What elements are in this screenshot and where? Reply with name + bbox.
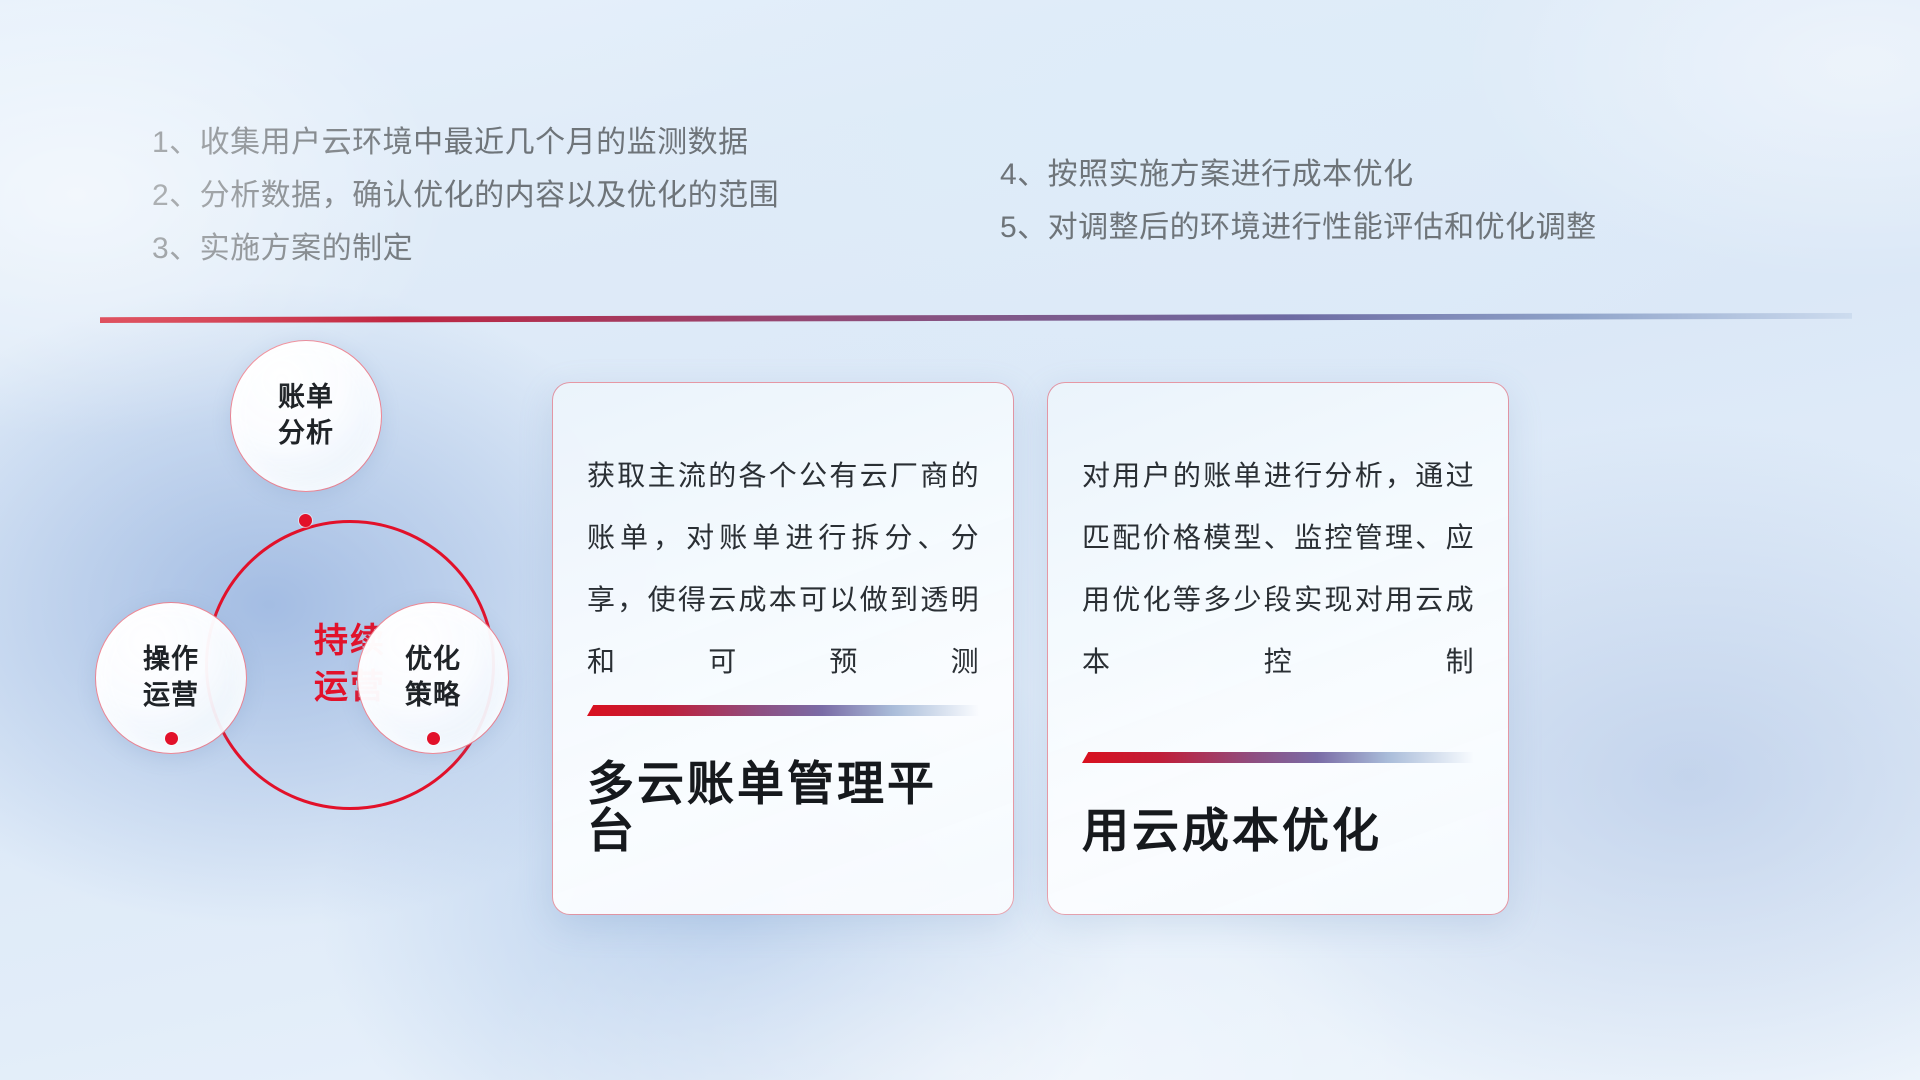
card-title: 用云成本优化 bbox=[1082, 763, 1474, 914]
process-steps-left: 1、收集用户云环境中最近几个月的监测数据 2、分析数据，确认优化的内容以及优化的… bbox=[152, 128, 779, 287]
node-connector-dot-top-icon bbox=[299, 514, 312, 527]
card-divider-icon bbox=[587, 705, 979, 716]
card-divider-icon bbox=[1082, 752, 1474, 763]
node-label-line1: 操作 bbox=[143, 642, 199, 678]
node-label-line2: 策略 bbox=[405, 678, 461, 714]
node-label-line2: 运营 bbox=[143, 678, 199, 714]
process-steps-right: 4、按照实施方案进行成本优化 5、对调整后的环境进行性能评估和优化调整 bbox=[1000, 160, 1597, 266]
node-connector-dot-right-icon bbox=[427, 732, 440, 745]
slide-canvas: 1、收集用户云环境中最近几个月的监测数据 2、分析数据，确认优化的内容以及优化的… bbox=[0, 0, 1920, 1080]
process-step-3: 3、实施方案的制定 bbox=[152, 234, 779, 264]
feature-card-multi-cloud-billing-platform[interactable]: 获取主流的各个公有云厂商的账单，对账单进行拆分、分享，使得云成本可以做到透明和可… bbox=[552, 382, 1014, 915]
process-step-4: 4、按照实施方案进行成本优化 bbox=[1000, 160, 1597, 190]
card-body-text: 获取主流的各个公有云厂商的账单，对账单进行拆分、分享，使得云成本可以做到透明和可… bbox=[587, 445, 979, 694]
process-step-2: 2、分析数据，确认优化的内容以及优化的范围 bbox=[152, 181, 779, 211]
node-label-line2: 分析 bbox=[278, 416, 334, 452]
node-connector-dot-left-icon bbox=[165, 732, 178, 745]
process-step-5: 5、对调整后的环境进行性能评估和优化调整 bbox=[1000, 213, 1597, 243]
node-label-line1: 优化 bbox=[405, 642, 461, 678]
feature-card-cloud-cost-optimization[interactable]: 对用户的账单进行分析，通过匹配价格模型、监控管理、应用优化等多少段实现对用云成本… bbox=[1047, 382, 1509, 915]
card-title: 多云账单管理平台 bbox=[587, 716, 979, 914]
continuous-operations-diagram: 持续 运营 账单 分析 操作 运营 优化 策略 bbox=[95, 340, 565, 920]
section-divider-rule bbox=[100, 313, 1852, 323]
card-body-text: 对用户的账单进行分析，通过匹配价格模型、监控管理、应用优化等多少段实现对用云成本… bbox=[1082, 445, 1474, 694]
diagram-node-bill-analysis[interactable]: 账单 分析 bbox=[230, 340, 382, 492]
node-label-line1: 账单 bbox=[278, 380, 334, 416]
process-step-1: 1、收集用户云环境中最近几个月的监测数据 bbox=[152, 128, 779, 158]
